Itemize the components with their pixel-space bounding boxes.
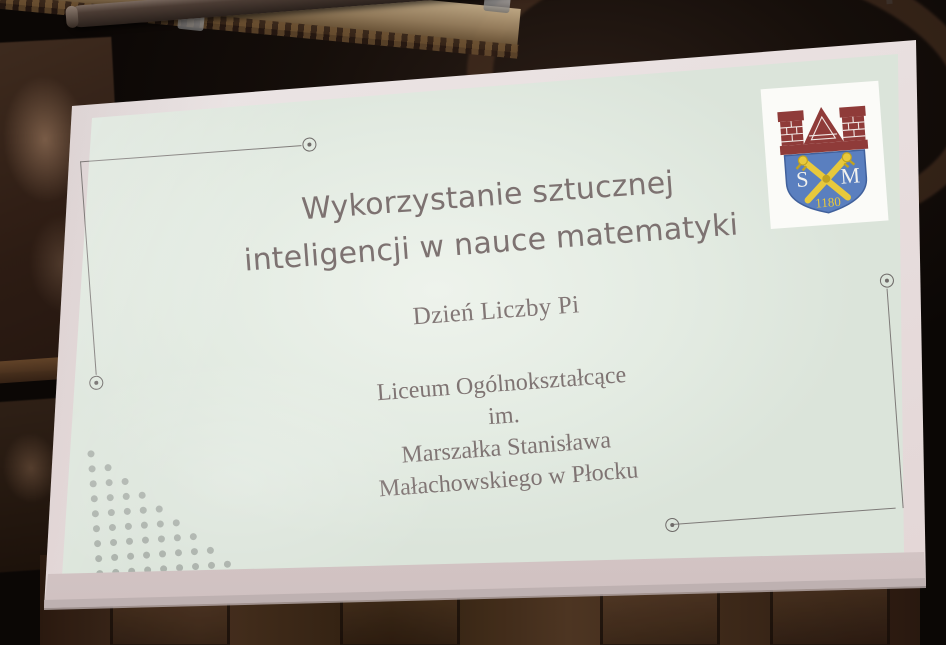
dot (176, 564, 183, 571)
dot (91, 495, 98, 502)
dot (174, 534, 181, 541)
dot (140, 506, 147, 513)
coat-letter-m: M (839, 162, 860, 188)
bracket-node-icon (879, 273, 894, 288)
bracket-horizontal-rule (80, 145, 302, 163)
dot (125, 523, 132, 530)
bracket-horizontal-rule (672, 507, 896, 525)
dot (155, 505, 162, 512)
roller-ceiling-mount (885, 0, 892, 4)
dot (111, 554, 118, 561)
dot (124, 508, 131, 515)
dot (159, 550, 166, 557)
bracket-node-icon (665, 518, 680, 533)
dot (208, 562, 215, 569)
dot (121, 478, 128, 485)
dot (107, 494, 114, 501)
slide-content: S M 1180 Wykorzystanie sztucznej intelig… (52, 72, 924, 602)
dot (158, 535, 165, 542)
screenshot-stage: S M 1180 Wykorzystanie sztucznej intelig… (0, 0, 946, 645)
dot (92, 510, 99, 517)
dot (94, 540, 101, 547)
dot (173, 519, 180, 526)
projection-screen: S M 1180 Wykorzystanie sztucznej intelig… (18, 14, 930, 614)
dot (192, 563, 199, 570)
dot (89, 480, 96, 487)
bracket-node-icon (302, 137, 317, 152)
dot (109, 524, 116, 531)
dot (142, 536, 149, 543)
dot (88, 465, 95, 472)
bracket-vertical-rule (886, 289, 903, 509)
dot (190, 533, 197, 540)
dot (141, 521, 148, 528)
dot (105, 479, 112, 486)
bracket-vertical-rule (80, 161, 97, 375)
dot (143, 551, 150, 558)
dot (126, 538, 133, 545)
dot (122, 493, 129, 500)
coat-year: 1180 (815, 194, 842, 211)
dot (95, 555, 102, 562)
dot (138, 492, 145, 499)
dot (93, 525, 100, 532)
coat-of-arms-icon: S M 1180 (770, 89, 879, 220)
dot (104, 464, 111, 471)
dot (207, 547, 214, 554)
dot (191, 548, 198, 555)
dot (175, 549, 182, 556)
dot (108, 509, 115, 516)
school-coat-of-arms: S M 1180 (761, 81, 889, 229)
dot-triangle-decoration (87, 436, 247, 592)
coat-letter-s: S (795, 166, 809, 192)
bracket-node-icon (89, 375, 104, 390)
dot (127, 553, 134, 560)
dot (224, 560, 231, 567)
dot (110, 539, 117, 546)
dot (157, 520, 164, 527)
dot (87, 450, 94, 457)
